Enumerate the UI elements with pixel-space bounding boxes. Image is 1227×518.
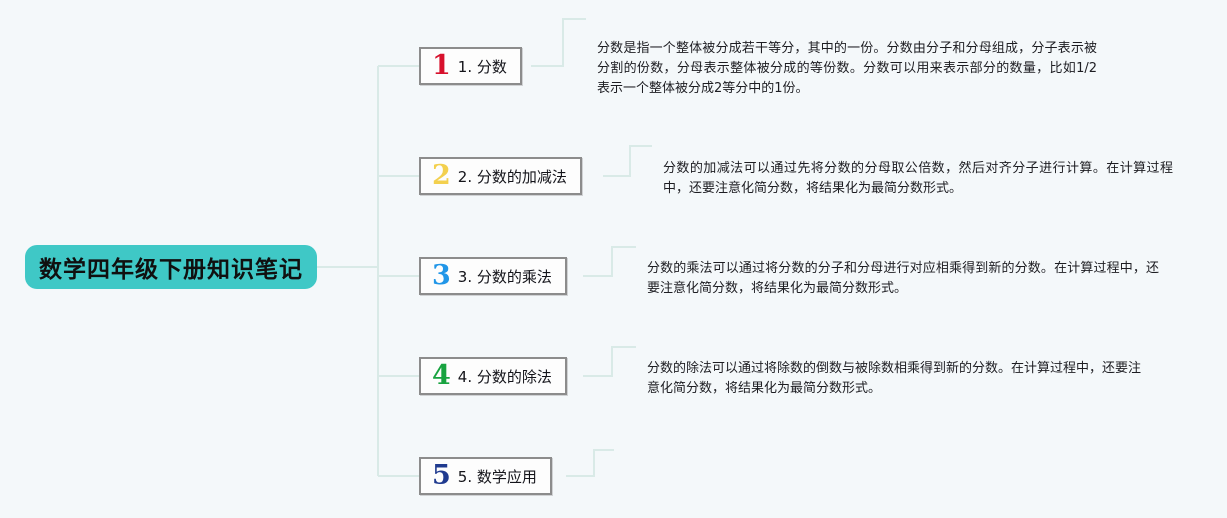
connector-detail-4 <box>583 347 636 376</box>
description-4: 分数的除法可以通过将除数的倒数与被除数相乘得到新的分数。在计算过程中，还要注意化… <box>647 359 1141 399</box>
connector-detail-3 <box>583 247 636 276</box>
root-node[interactable]: 数学四年级下册知识笔记 <box>25 245 317 289</box>
branch-node-4[interactable]: 4 4. 分数的除法 <box>419 357 567 395</box>
branch-number-3: 3 <box>432 262 451 289</box>
branch-label-1: 1. 分数 <box>458 56 507 77</box>
branch-label-3: 3. 分数的乘法 <box>458 266 552 287</box>
branch-label-5: 5. 数学应用 <box>458 466 537 487</box>
branch-node-3[interactable]: 3 3. 分数的乘法 <box>419 257 567 295</box>
branch-number-4: 4 <box>432 362 451 389</box>
mindmap-canvas: 数学四年级下册知识笔记 1 1. 分数 分数是指一个整体被分成若干等分，其中的一… <box>0 0 1227 518</box>
branch-node-2[interactable]: 2 2. 分数的加减法 <box>419 157 582 195</box>
branch-node-5[interactable]: 5 5. 数学应用 <box>419 457 552 495</box>
connector-detail-1 <box>531 19 586 66</box>
branch-label-2: 2. 分数的加减法 <box>458 166 567 187</box>
description-3: 分数的乘法可以通过将分数的分子和分母进行对应相乘得到新的分数。在计算过程中，还要… <box>647 259 1159 299</box>
branch-node-1[interactable]: 1 1. 分数 <box>419 47 522 85</box>
description-2: 分数的加减法可以通过先将分数的分母取公倍数，然后对齐分子进行计算。在计算过程中，… <box>663 159 1173 199</box>
description-1: 分数是指一个整体被分成若干等分，其中的一份。分数由分子和分母组成，分子表示被分割… <box>597 39 1097 99</box>
branch-number-5: 5 <box>432 462 451 489</box>
branch-label-4: 4. 分数的除法 <box>458 366 552 387</box>
connector-detail-2 <box>603 146 652 176</box>
branch-number-1: 1 <box>432 52 451 79</box>
connector-detail-5 <box>566 450 614 476</box>
branch-number-2: 2 <box>432 162 451 189</box>
root-node-label: 数学四年级下册知识笔记 <box>39 250 303 284</box>
